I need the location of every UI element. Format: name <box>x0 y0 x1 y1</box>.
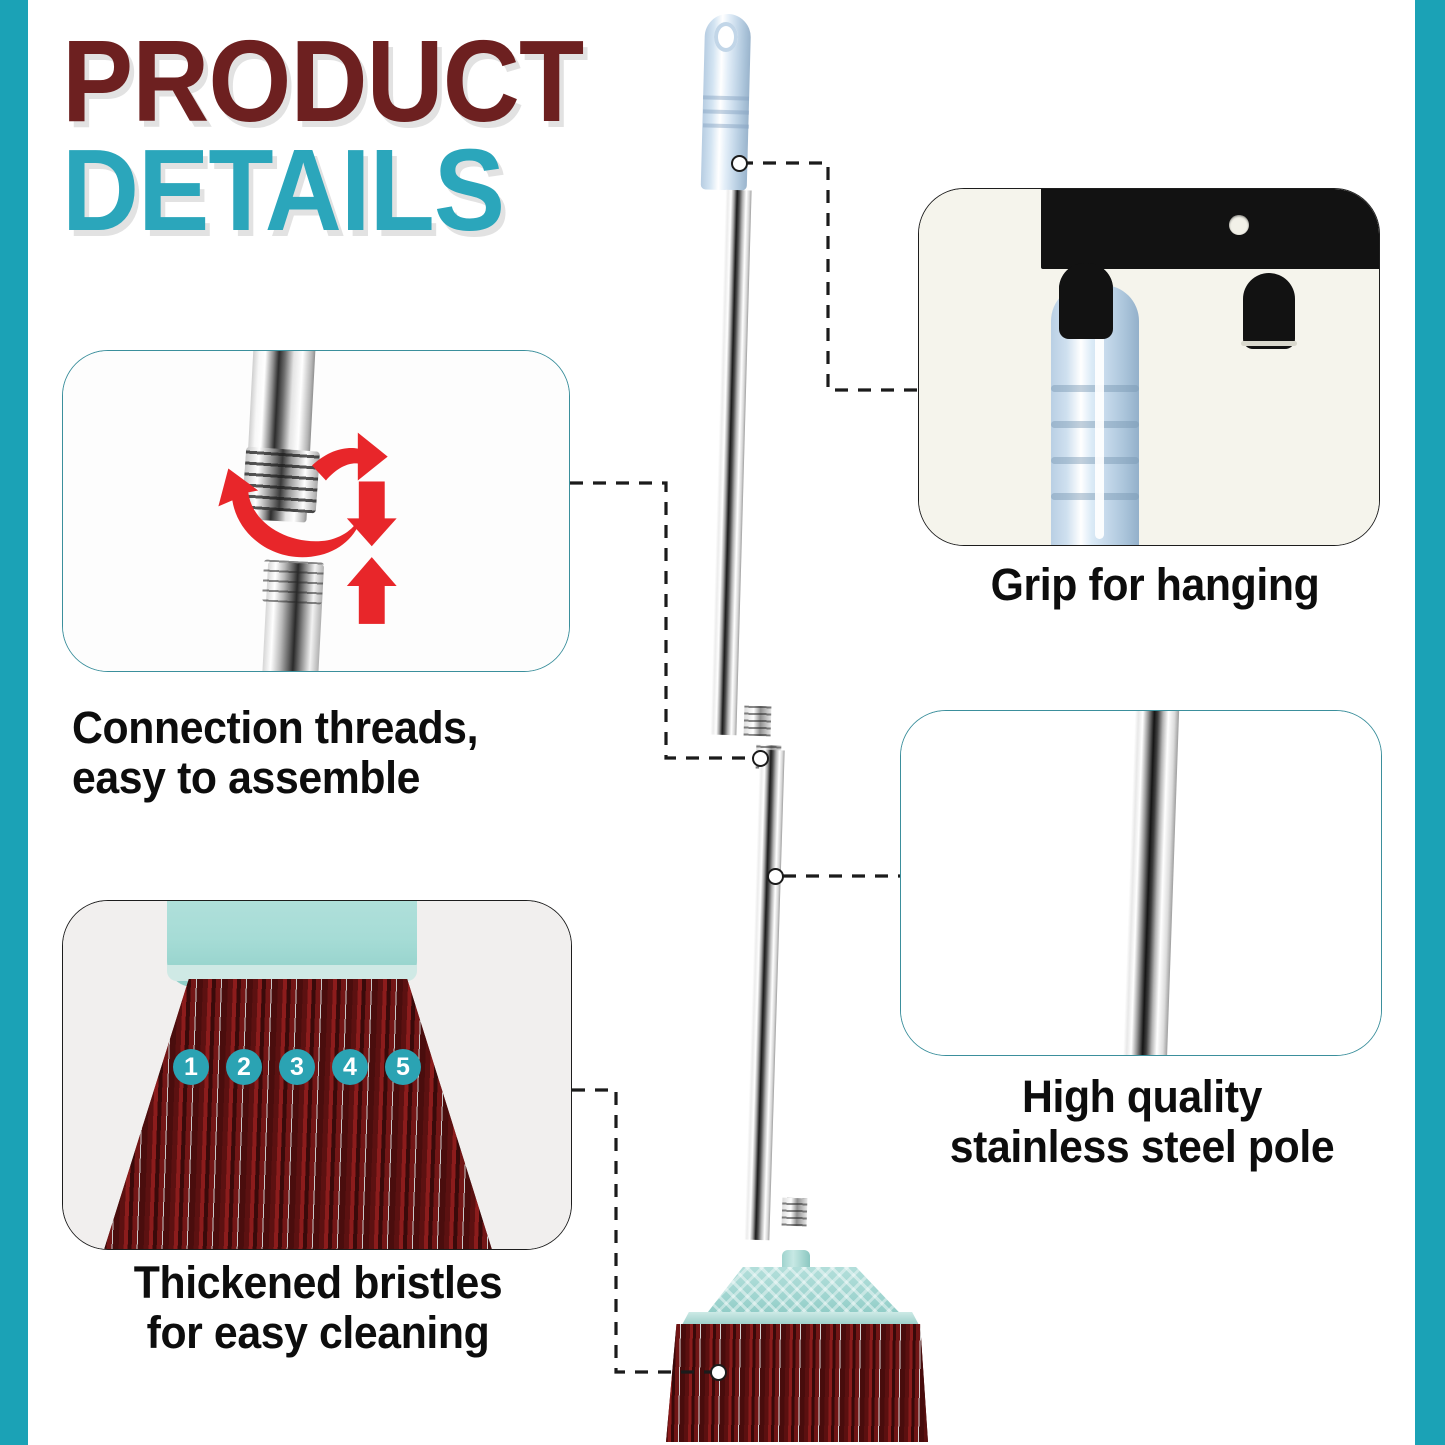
callout-marker-threads <box>752 750 769 767</box>
callout-marker-pole <box>767 868 784 885</box>
hook-left-front <box>1059 263 1113 339</box>
broom-pole-lower <box>744 750 784 1241</box>
bristle-badge-2: 2 <box>226 1049 262 1085</box>
left-accent-bar <box>0 0 28 1445</box>
caption-line-1: High quality <box>912 1072 1372 1122</box>
pole-closeup <box>1123 710 1180 1056</box>
bristle-badge-3: 3 <box>279 1049 315 1085</box>
broom-head-bristles <box>666 1324 928 1442</box>
right-accent-bar <box>1415 0 1445 1445</box>
push-up-arrow-icon <box>347 557 397 624</box>
title-line-details: DETAILS <box>62 137 632 244</box>
broom-head <box>656 1250 936 1440</box>
product-details-infographic: PRODUCT DETAILS <box>0 0 1445 1445</box>
wall-hook-bar <box>1041 188 1380 269</box>
connector-grip <box>740 163 918 390</box>
caption-line-1: Grip for hanging <box>941 560 1369 610</box>
feature-card-thickened-bristles: 1 2 3 4 5 <box>62 900 572 1250</box>
bristle-layer-badges: 1 2 3 4 5 <box>173 1049 421 1085</box>
broom-pole-upper <box>710 190 751 736</box>
caption-line-1: Thickened bristles <box>75 1258 561 1308</box>
broom-head-lip <box>674 1312 922 1326</box>
caption-stainless-steel-pole: High quality stainless steel pole <box>912 1072 1372 1173</box>
feature-card-grip-for-hanging <box>918 188 1380 546</box>
caption-thickened-bristles: Thickened bristles for easy cleaning <box>75 1258 561 1359</box>
pole-thread-upper <box>744 706 772 737</box>
bristles-illustration: 1 2 3 4 5 <box>63 901 571 1249</box>
bristle-badge-5: 5 <box>385 1049 421 1085</box>
callout-marker-grip <box>731 155 748 172</box>
hanging-hole-icon <box>714 22 738 52</box>
bristle-bundle <box>103 979 493 1250</box>
caption-connection-threads: Connection threads, easy to assemble <box>72 703 566 804</box>
broom-head-cap-edge <box>167 965 417 981</box>
title-line-product: PRODUCT <box>62 28 632 135</box>
grip-illustration <box>919 189 1379 545</box>
assembly-arrows <box>63 351 569 672</box>
caption-line-1: Connection threads, <box>72 703 566 753</box>
feature-card-connection-threads <box>62 350 570 672</box>
hook-right <box>1243 273 1295 349</box>
pole-illustration <box>901 711 1381 1055</box>
caption-line-2: for easy cleaning <box>75 1308 561 1358</box>
push-down-arrow-icon <box>347 481 397 546</box>
hook-right-lip <box>1241 341 1297 346</box>
caption-grip-for-hanging: Grip for hanging <box>941 560 1369 610</box>
rotate-left-arrow-icon <box>218 469 361 558</box>
rotate-right-arrow-icon <box>312 433 388 481</box>
feature-card-stainless-steel-pole <box>900 710 1382 1056</box>
caption-line-2: easy to assemble <box>72 753 566 803</box>
callout-marker-bristles <box>710 1364 727 1381</box>
caption-line-2: stainless steel pole <box>912 1122 1372 1172</box>
page-title: PRODUCT DETAILS <box>62 28 682 243</box>
bristle-badge-4: 4 <box>332 1049 368 1085</box>
pole-thread-head-end <box>782 1198 808 1227</box>
grip-highlight <box>1095 329 1104 539</box>
threads-illustration <box>63 351 569 671</box>
bristle-badge-1: 1 <box>173 1049 209 1085</box>
mounting-hole-icon <box>1229 215 1249 235</box>
